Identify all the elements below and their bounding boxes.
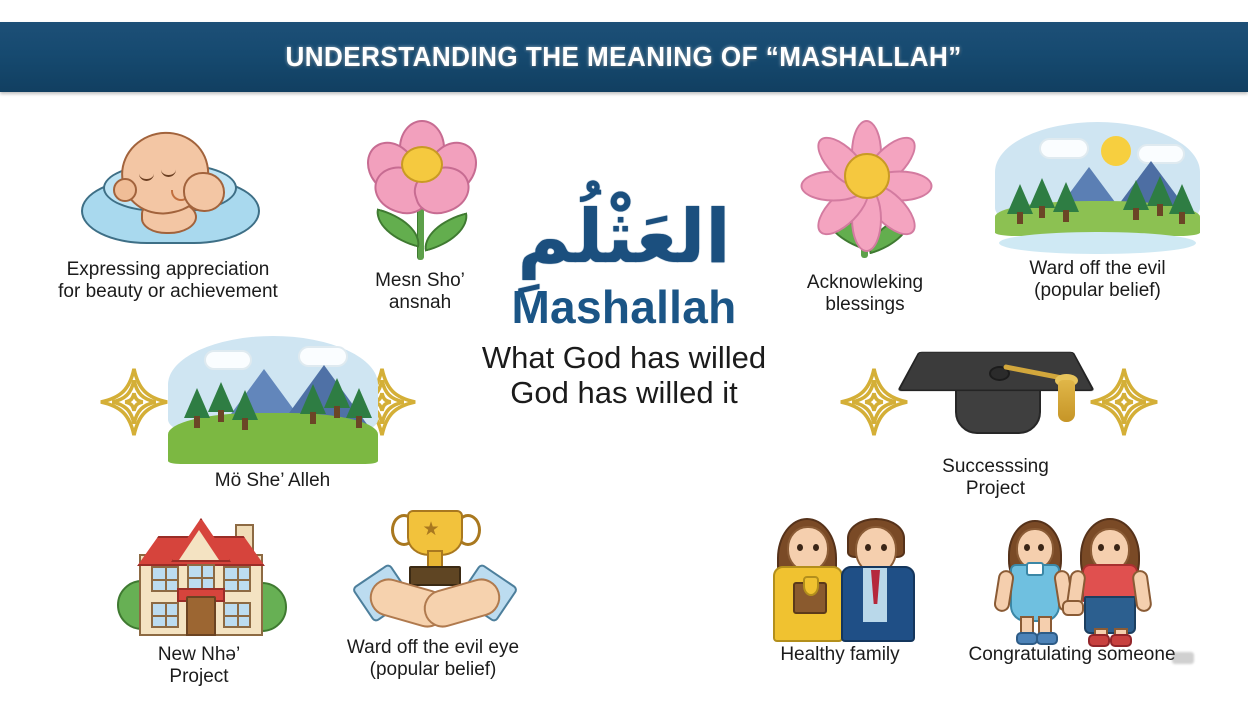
gold-four-point-star-icon xyxy=(1088,366,1160,438)
item-landscape-top-right: Ward off the evil (popular belief) xyxy=(985,122,1210,302)
two-children-icon xyxy=(982,504,1162,640)
item-flower: Mesn Sho’ ansnah xyxy=(330,118,510,314)
header-banner: UNDERSTANDING THE MEANING OF “MASHALLAH” xyxy=(0,22,1248,92)
item-daisy: Acknowleking blessings xyxy=(780,112,950,316)
pink-daisy-icon xyxy=(785,112,945,272)
infographic-canvas: UNDERSTANDING THE MEANING OF “MASHALLAH”… xyxy=(0,0,1248,702)
mountain-landscape-icon xyxy=(168,336,378,464)
item-caption: Congratulating someone xyxy=(950,644,1194,666)
page-title: UNDERSTANDING THE MEANING OF “MASHALLAH” xyxy=(286,41,962,73)
couple-icon xyxy=(755,504,925,640)
item-trophy-handshake: ★ Ward off the evil eye (popular belief) xyxy=(318,508,548,681)
item-house: New Nhə’ Project xyxy=(104,508,294,688)
house-icon xyxy=(109,508,289,638)
item-graduation: Successsing Project xyxy=(898,330,1093,500)
item-caption: Healthy family xyxy=(750,644,930,666)
item-caption: Successsing Project xyxy=(898,456,1093,500)
item-couple: Healthy family xyxy=(750,504,930,666)
item-landscape-middle-left: Mö She’ Alleh xyxy=(160,336,385,492)
item-caption: Ward off the evil eye (popular belief) xyxy=(318,637,548,681)
item-caption: Acknowleking blessings xyxy=(780,272,950,316)
artifact-smudge xyxy=(1172,652,1194,664)
meaning-text: What God has willed God has willed it xyxy=(424,340,824,411)
item-baby: Expressing appreciation for beauty or ac… xyxy=(28,116,308,303)
trophy-handshake-icon: ★ xyxy=(351,508,516,633)
item-caption: Mesn Sho’ ansnah xyxy=(330,270,510,314)
sleeping-baby-icon xyxy=(63,116,273,251)
item-caption: New Nhə’ Project xyxy=(104,644,294,688)
item-caption: Mö She’ Alleh xyxy=(160,470,385,492)
item-caption: Ward off the evil (popular belief) xyxy=(985,258,1210,302)
pink-flower-icon xyxy=(345,118,495,268)
item-children: Congratulating someone xyxy=(950,504,1194,666)
item-caption: Expressing appreciation for beauty or ac… xyxy=(28,259,308,303)
mountain-landscape-icon xyxy=(995,122,1200,254)
graduation-cap-icon xyxy=(903,330,1088,450)
